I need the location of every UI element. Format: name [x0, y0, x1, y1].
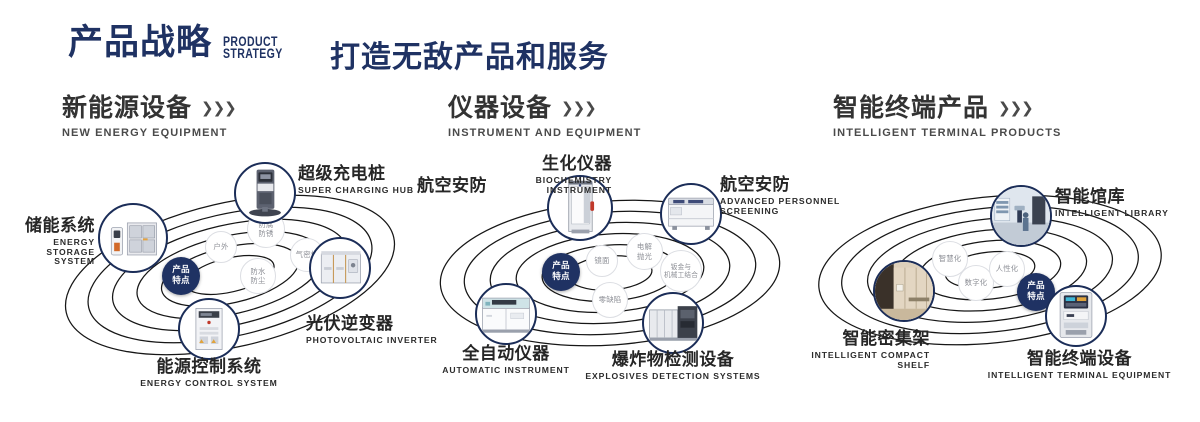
node-label-cn: 智能馆库: [1055, 188, 1195, 207]
node-label-cn: 超级充电桩: [298, 165, 428, 184]
energy-storage-cabinet-icon: [100, 205, 166, 271]
chevron-right-icon: ❯❯❯: [561, 99, 596, 117]
poster-title-en: PRODUCT STRATEGY: [223, 36, 283, 60]
poster-header: 产品战略 PRODUCT STRATEGY: [68, 26, 300, 61]
node-label-automatic-instrument: 全自动仪器 AUTOMATIC INSTRUMENT: [391, 345, 621, 376]
node-label-biochemistry-instrument: 生化仪器 BIOCHEMISTRY INSTRUMENT: [418, 155, 612, 195]
core-feature-bubble: 产品 特点: [542, 253, 580, 291]
node-label-en: AUTOMATIC INSTRUMENT: [391, 366, 621, 376]
node-photovoltaic-inverter[interactable]: [309, 237, 371, 299]
node-label-en: ENERGY CONTROL SYSTEM: [89, 379, 329, 389]
screening-machine-icon: [662, 185, 720, 243]
poster-subtitle: 打造无敌产品和服务: [330, 32, 609, 76]
self-service-kiosk-icon: [1047, 287, 1105, 345]
node-label-intelligent-compact-shelf: 智能密集架 INTELLIGENT COMPACT SHELF: [735, 330, 930, 370]
feature-bubble: 户外: [205, 231, 237, 263]
node-label-en: SUPER CHARGING HUB: [298, 186, 428, 196]
node-label-intelligent-terminal-equipment: 智能终端设备 INTELLIGENT TERMINAL EQUIPMENT: [957, 350, 1200, 381]
feature-bubble: 电解 抛光: [626, 233, 663, 270]
feature-bubble: 防水 防尘: [240, 258, 276, 294]
chevron-right-icon: ❯❯❯: [201, 99, 236, 117]
diagram-new-energy: 产品 特点 户外 防腐 防锈 防水 防尘 气密性 储能系统 ENERGY STO…: [40, 155, 420, 385]
node-explosives-detection-systems[interactable]: [642, 292, 704, 354]
control-cabinet-icon: [180, 300, 238, 358]
chevron-right-icon: ❯❯❯: [998, 99, 1033, 117]
node-intelligent-compact-shelf[interactable]: [873, 260, 935, 322]
node-label-cn: 能源控制系统: [89, 358, 329, 377]
node-automatic-instrument[interactable]: [475, 283, 537, 345]
node-label-en: BIOCHEMISTRY INSTRUMENT: [418, 176, 612, 195]
library-room-icon: [992, 187, 1050, 245]
pv-inverter-cabinet-icon: [311, 239, 369, 297]
explosives-detector-icon: [644, 294, 702, 352]
poster-canvas: 产品战略 PRODUCT STRATEGY 打造无敌产品和服务 新能源设备❯❯❯…: [0, 0, 1200, 422]
node-energy-storage-system[interactable]: [98, 203, 168, 273]
node-label-cn: 智能终端设备: [957, 350, 1200, 369]
section-title-en: INTELLIGENT TERMINAL PRODUCTS: [833, 127, 1061, 139]
feature-bubble: 钣金与 机械工结合: [660, 250, 702, 292]
node-label-en: INTELLIGENT TERMINAL EQUIPMENT: [957, 371, 1200, 381]
node-label-en: INTELLIGENT COMPACT SHELF: [735, 351, 930, 370]
core-feature-bubble: 产品 特点: [162, 257, 200, 295]
node-energy-control-system[interactable]: [178, 298, 240, 360]
section-title-cn: 智能终端产品: [833, 95, 989, 121]
node-label-en: ENERGY STORAGE SYSTEM: [10, 238, 95, 267]
node-label-intelligent-library: 智能馆库 INTELLIGENT LIBRARY: [1055, 188, 1195, 219]
poster-title-cn: 产品战略: [68, 26, 212, 61]
section-heading-new-energy: 新能源设备❯❯❯ NEW ENERGY EQUIPMENT: [62, 95, 236, 139]
node-label-cn: 储能系统: [10, 217, 95, 236]
section-heading-instrument: 仪器设备❯❯❯ INSTRUMENT AND EQUIPMENT: [448, 95, 641, 139]
node-intelligent-library[interactable]: [990, 185, 1052, 247]
node-advanced-personnel-screening[interactable]: [660, 183, 722, 245]
node-label-energy-storage-system: 储能系统 ENERGY STORAGE SYSTEM: [10, 217, 95, 267]
section-heading-intelligent: 智能终端产品❯❯❯ INTELLIGENT TERMINAL PRODUCTS: [833, 95, 1061, 139]
section-title-en: INSTRUMENT AND EQUIPMENT: [448, 127, 641, 139]
diagram-intelligent-terminal: 智慧化 数字化 人性化 产品 特点 智能馆库 INTELLIGENT LIBRA…: [805, 155, 1185, 385]
node-label-energy-control-system: 能源控制系统 ENERGY CONTROL SYSTEM: [89, 358, 329, 389]
node-label-en: INTELLIGENT LIBRARY: [1055, 209, 1195, 219]
compact-shelf-icon: [875, 262, 933, 320]
node-intelligent-terminal-equipment[interactable]: [1045, 285, 1107, 347]
node-label-super-charging-hub: 超级充电桩 SUPER CHARGING HUB: [298, 165, 428, 196]
section-title-cn: 新能源设备: [62, 95, 192, 121]
automatic-analyzer-icon: [477, 285, 535, 343]
section-title-en: NEW ENERGY EQUIPMENT: [62, 127, 236, 139]
node-label-cn: 智能密集架: [735, 330, 930, 349]
node-label-cn: 全自动仪器: [391, 345, 621, 364]
node-super-charging-hub[interactable]: [234, 162, 296, 224]
charging-pile-icon: [236, 164, 294, 222]
node-label-cn: 生化仪器: [418, 155, 612, 174]
feature-bubble: 镜面: [586, 245, 618, 277]
feature-bubble: 零缺陷: [592, 282, 628, 318]
section-title-cn: 仪器设备: [448, 95, 552, 121]
